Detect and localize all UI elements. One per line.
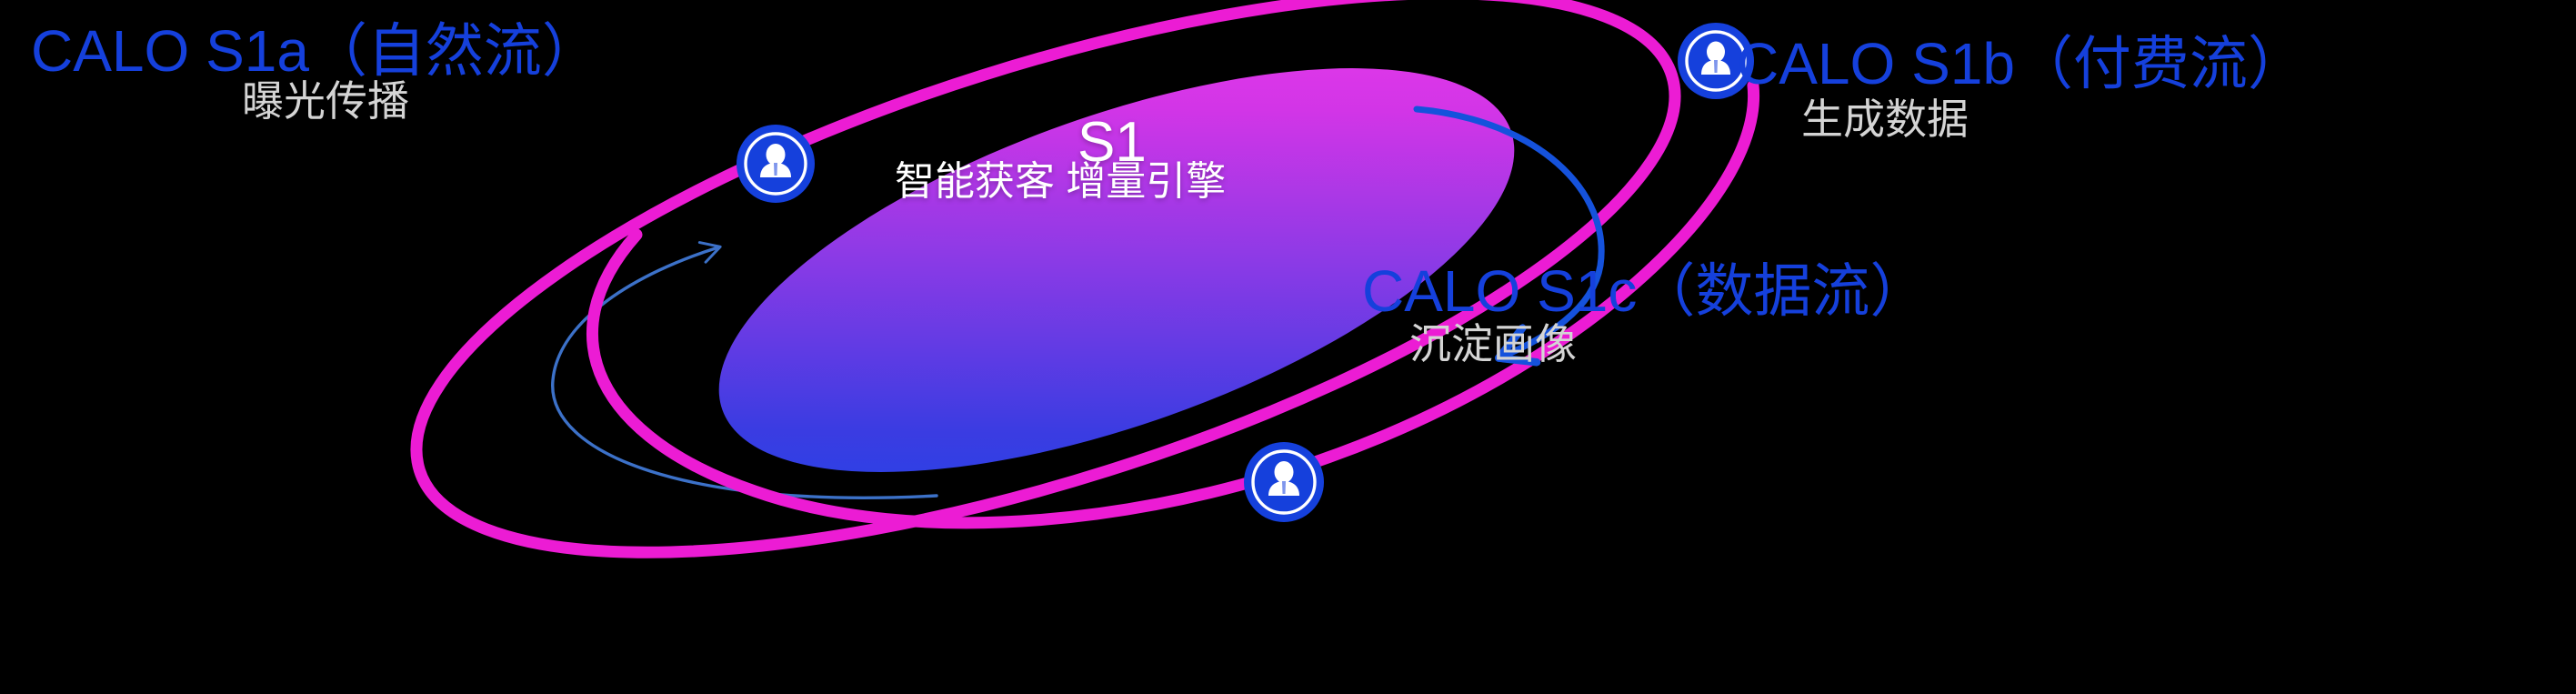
- avatar-node-s1a[interactable]: [737, 125, 815, 203]
- diagram-canvas: CALO S1a（自然流） 曝光传播 CALO S1b（付费流） 生成数据 CA…: [0, 0, 2576, 694]
- avatar-node-s1c[interactable]: [1244, 442, 1324, 522]
- orbit-diagram: [0, 0, 2576, 694]
- avatar-node-s1b[interactable]: [1678, 23, 1754, 99]
